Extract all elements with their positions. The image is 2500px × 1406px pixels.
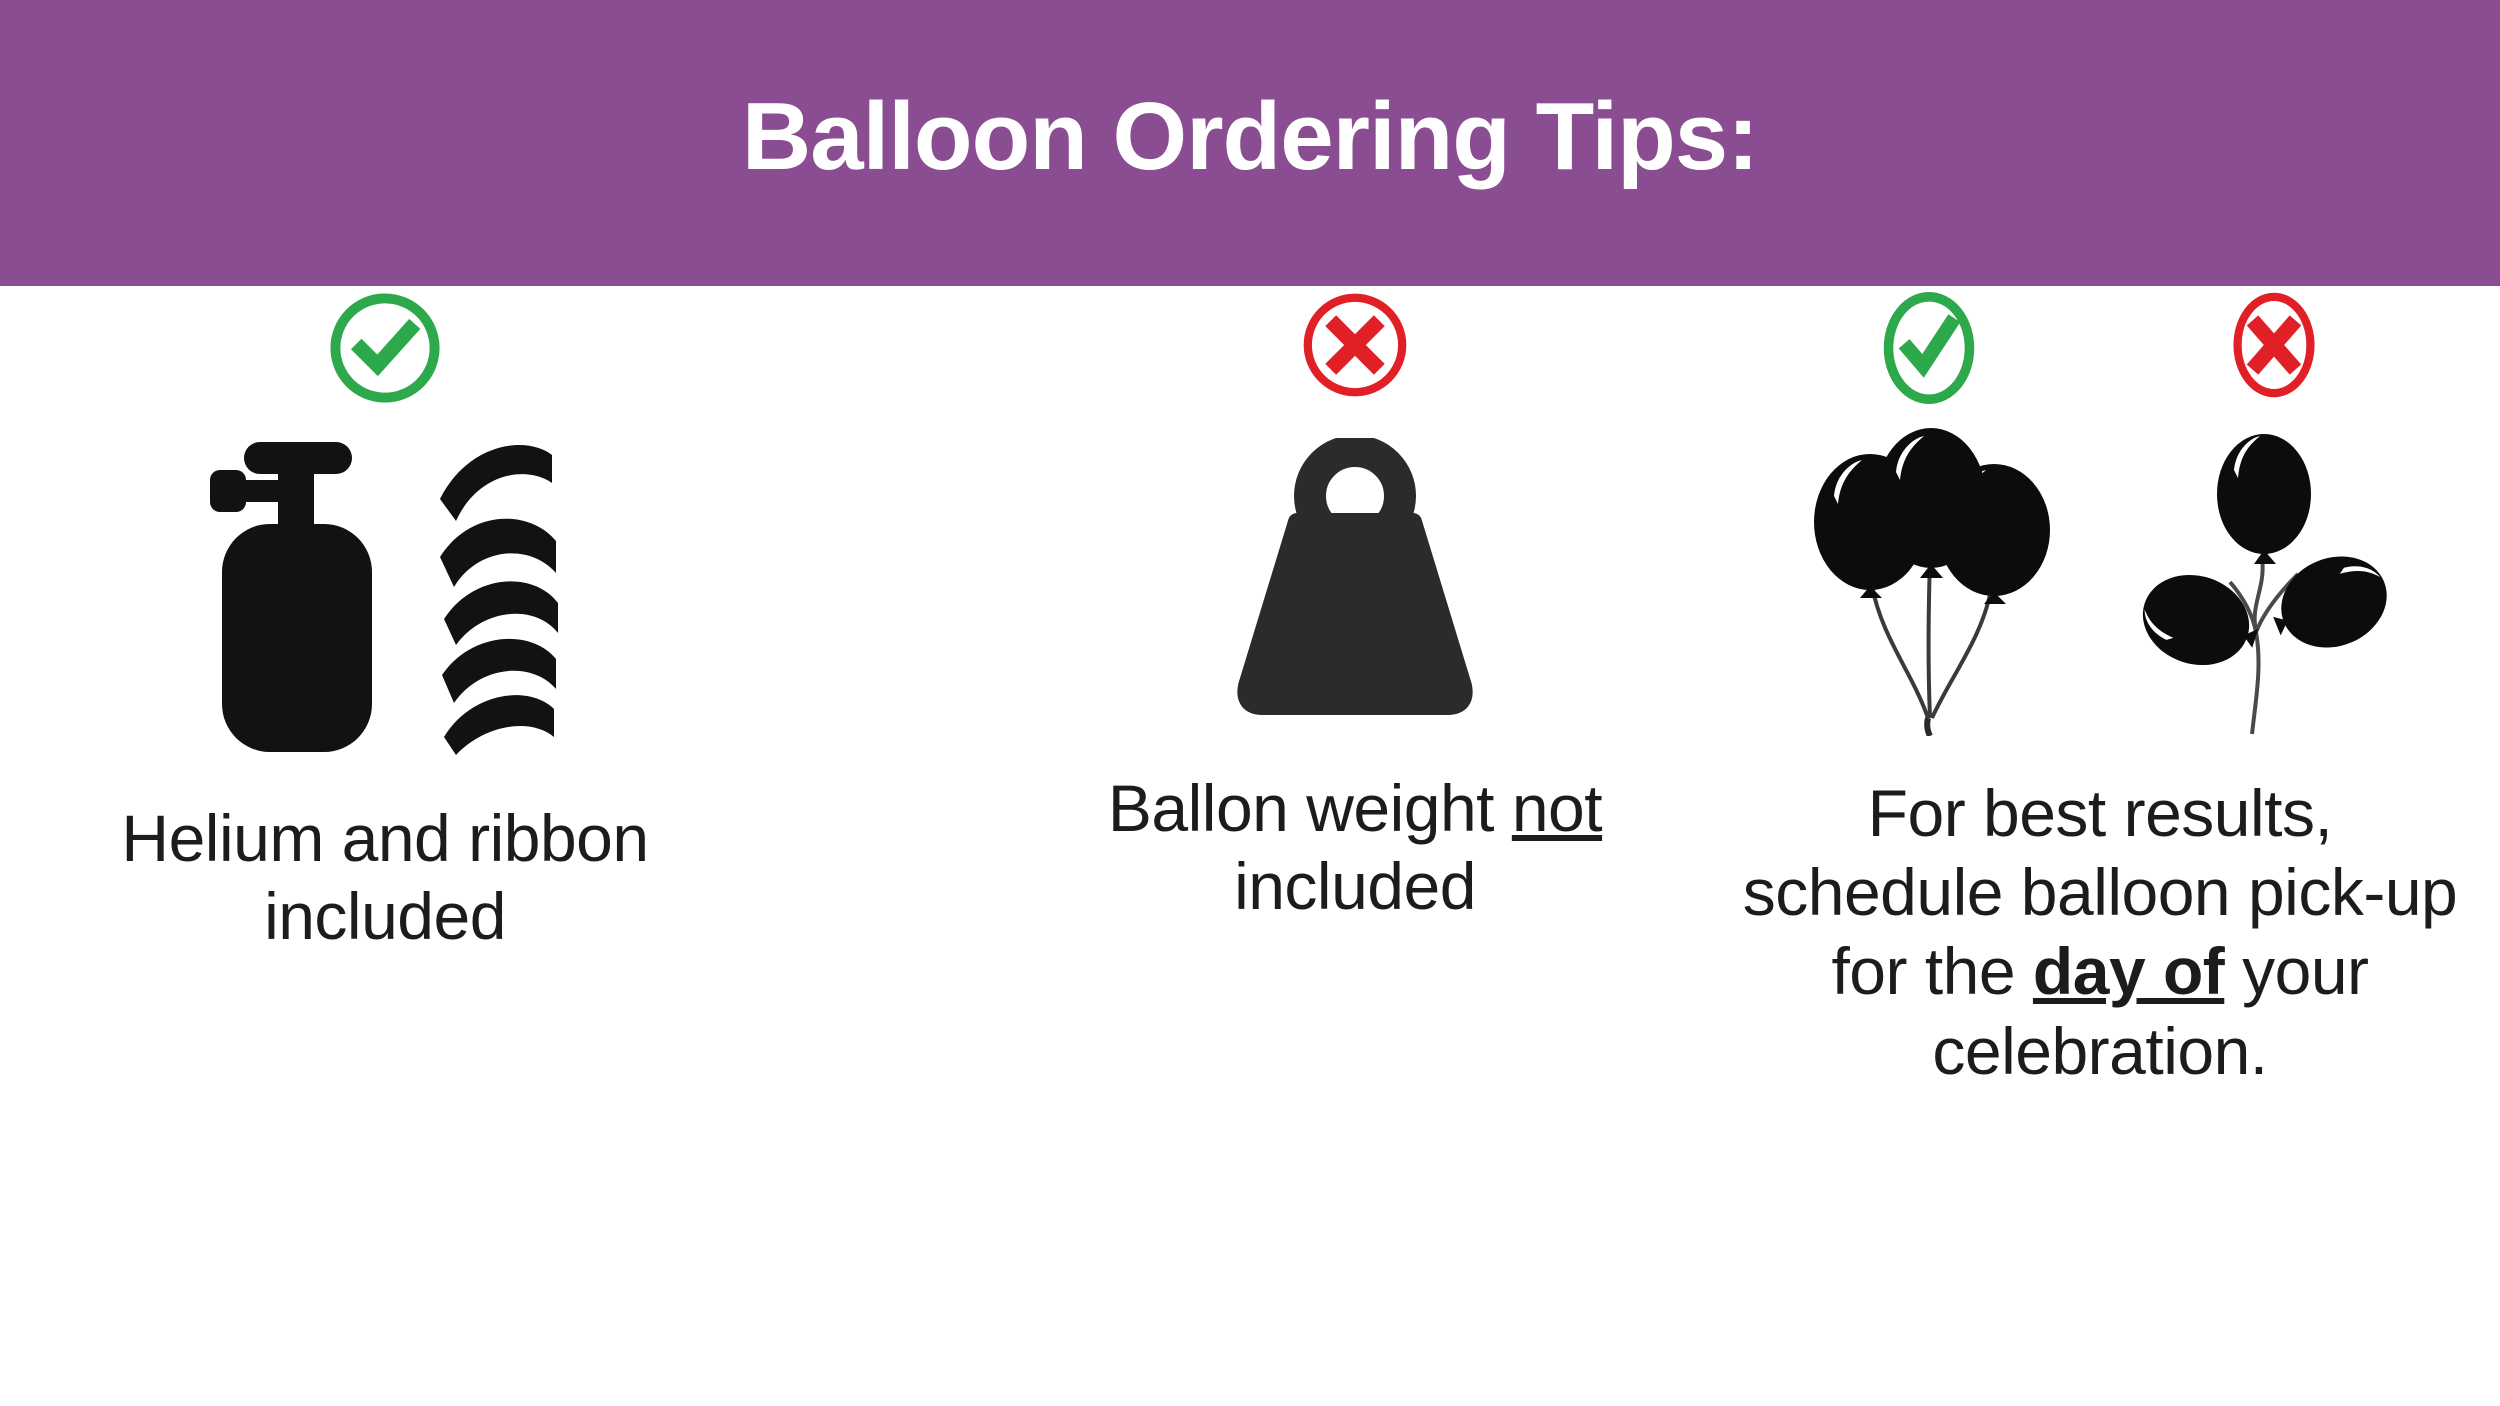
artwork-row — [1035, 438, 1675, 728]
balloons-inflated-icon — [1800, 426, 2068, 736]
caption-line-2: included — [264, 879, 506, 953]
tip-caption-weight: Ballon weight notincluded — [1108, 770, 1602, 926]
helium-tank-icon — [208, 432, 386, 762]
cross-circle-icon — [1296, 286, 1414, 404]
badge-row — [1035, 286, 1675, 404]
tip-schedule-pickup: For best results, schedule balloon pick-… — [1735, 286, 2465, 1091]
caption-line-1: Helium and ribbon — [121, 801, 648, 875]
badge-row — [40, 286, 730, 410]
poster-canvas: Balloon Ordering Tips: — [0, 0, 2500, 1406]
check-circle-icon — [323, 286, 447, 410]
caption-text-before-emphasis: Ballon weight — [1108, 771, 1512, 845]
caption-emphasis-not: not — [1512, 771, 1602, 845]
tip-balloon-weight: Ballon weight notincluded — [1035, 286, 1675, 926]
tip-caption-schedule: For best results, schedule balloon pick-… — [1740, 774, 2460, 1091]
artwork-row — [1735, 426, 2465, 756]
curly-ribbon-icon — [434, 437, 562, 757]
artwork-row — [40, 432, 730, 762]
tips-row: Helium and ribbonincluded — [0, 286, 2500, 1406]
caption-line-2: included — [1234, 849, 1476, 923]
cross-circle-icon — [2227, 286, 2321, 404]
tip-caption-helium: Helium and ribbonincluded — [121, 800, 648, 956]
badge-row — [1735, 286, 2465, 410]
caption-emphasis-day-of: day of — [2033, 934, 2224, 1008]
header-band: Balloon Ordering Tips: — [0, 0, 2500, 286]
tip-helium-and-ribbon: Helium and ribbonincluded — [40, 286, 730, 956]
balloons-deflated-icon — [2130, 426, 2400, 756]
page-title: Balloon Ordering Tips: — [742, 89, 1758, 185]
check-circle-icon — [1879, 286, 1979, 410]
balloon-weight-icon — [1205, 438, 1505, 728]
